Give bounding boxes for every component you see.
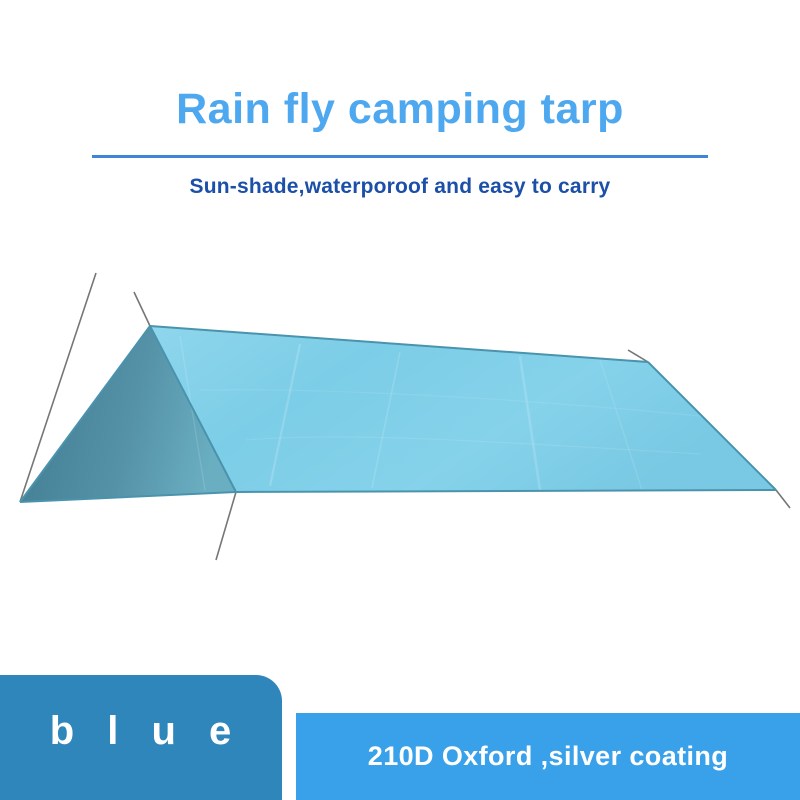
page-title: Rain fly camping tarp: [0, 86, 800, 133]
page-subtitle: Sun-shade,waterporoof and easy to carry: [0, 175, 800, 199]
camping-tarp-photo: [0, 240, 800, 640]
tarp-main-panel: [150, 326, 776, 492]
color-badge: b l u e: [0, 675, 282, 800]
spec-badge-label: 210D Oxford ,silver coating: [368, 741, 728, 772]
product-banner: Rain fly camping tarp Sun-shade,waterpor…: [0, 0, 800, 800]
title-divider: [92, 155, 708, 158]
color-badge-label: b l u e: [40, 709, 243, 766]
spec-badge: 210D Oxford ,silver coating: [296, 713, 800, 800]
